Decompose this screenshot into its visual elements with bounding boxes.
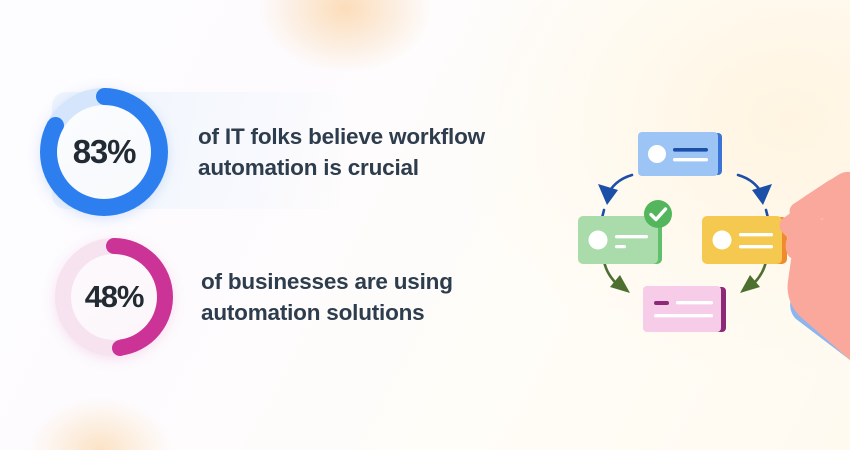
card-bottom-line-3 xyxy=(654,314,713,317)
stat-value-48: 48% xyxy=(85,279,143,315)
stat-description-48: of businesses are using automation solut… xyxy=(201,266,453,328)
arrow-right-to-bottom-icon xyxy=(740,261,766,293)
stat-description-83-line2: automation is crucial xyxy=(198,152,485,183)
card-right-yellow[interactable] xyxy=(702,216,787,264)
arrow-top-to-right-icon xyxy=(738,175,772,205)
check-badge-icon xyxy=(644,200,672,228)
card-left-line-1 xyxy=(615,235,648,238)
stat-description-83-line1: of IT folks believe workflow xyxy=(198,121,485,152)
donut-cap-end-48 xyxy=(112,340,128,356)
stat-row-48: 48% of businesses are using automation s… xyxy=(55,238,453,356)
card-top-line-1 xyxy=(673,148,708,152)
hand-grabbing-card-icon xyxy=(780,172,850,360)
card-top-blue[interactable] xyxy=(638,132,722,176)
stat-value-83: 83% xyxy=(73,133,135,171)
card-right-line-1 xyxy=(739,233,773,236)
donut-cap-start-48 xyxy=(106,238,122,254)
card-bottom-line-2 xyxy=(676,301,713,304)
illustration-stage: 83% of IT folks believe workflow automat… xyxy=(0,0,850,450)
donut-cap-start-83 xyxy=(96,88,113,105)
stat-description-48-line2: automation solutions xyxy=(201,297,453,328)
card-right-line-2 xyxy=(739,245,773,248)
arrow-top-to-left-icon xyxy=(598,175,632,205)
card-left-line-2 xyxy=(615,245,626,248)
donut-chart-83: 83% xyxy=(40,88,168,216)
card-left-avatar-icon xyxy=(589,231,608,250)
card-right-avatar-icon xyxy=(713,231,732,250)
stat-row-83: 83% of IT folks believe workflow automat… xyxy=(40,88,485,216)
stat-description-83: of IT folks believe workflow automation … xyxy=(198,121,485,183)
workflow-cycle-svg xyxy=(560,105,850,365)
card-bottom-line-1 xyxy=(654,301,669,305)
workflow-automation-illustration xyxy=(560,105,850,365)
donut-chart-48: 48% xyxy=(55,238,173,356)
card-top-line-2 xyxy=(673,158,708,161)
card-top-avatar-icon xyxy=(648,145,666,163)
arrow-left-to-bottom-icon xyxy=(604,261,630,293)
card-bottom-pink[interactable] xyxy=(643,286,726,332)
stat-description-48-line1: of businesses are using xyxy=(201,266,453,297)
